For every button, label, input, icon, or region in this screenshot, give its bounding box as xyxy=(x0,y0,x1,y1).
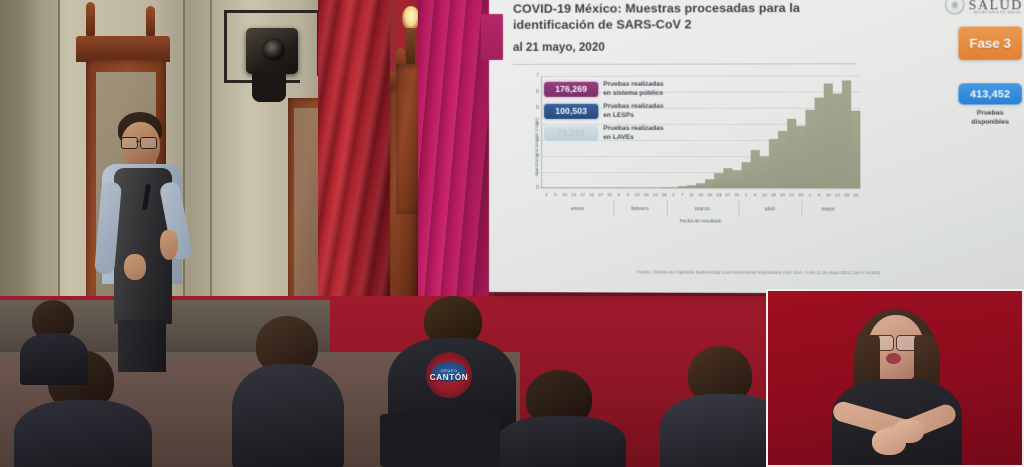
legend-lesps: 100,503Pruebas realizadas en LESPs xyxy=(544,102,663,120)
curtain-red xyxy=(318,0,390,310)
chart-bar xyxy=(669,187,678,188)
interpreter-hand-right xyxy=(894,419,924,443)
x-tick-label: 20 xyxy=(780,192,785,197)
legend-sistema-publico: 176,269Pruebas realizadas en sistema púb… xyxy=(544,80,663,98)
y-tick-label: 4 xyxy=(536,121,539,127)
audience-member-2 xyxy=(20,300,90,370)
slide-accent-bar xyxy=(481,14,503,60)
presenter-hand-left xyxy=(124,254,146,280)
month-label: enero xyxy=(571,206,585,212)
slide-title: COVID-19 México: Muestras procesadas par… xyxy=(513,0,846,34)
x-tick-label: 28 xyxy=(798,192,803,197)
month-separator xyxy=(738,200,739,216)
x-tick-label: 12 xyxy=(762,192,767,197)
x-tick-label: 17 xyxy=(580,192,585,197)
x-tick-label: 14 xyxy=(835,192,840,197)
audience-member-3 xyxy=(232,316,344,467)
chart-bar xyxy=(742,163,751,189)
month-separator xyxy=(667,200,668,216)
chart-bar xyxy=(824,83,833,188)
x-tick-label: 19 xyxy=(707,192,712,197)
chart-bar xyxy=(687,185,696,188)
audience-body xyxy=(14,400,152,467)
camera-hood xyxy=(252,72,286,102)
available-tests-caption: Pruebas disponibles xyxy=(958,109,1022,128)
chart-bar xyxy=(769,139,778,188)
wall-panel-left xyxy=(0,0,60,300)
chart-bar xyxy=(723,168,732,188)
salud-logo-subtitle: SECRETARÍA DE SALUD xyxy=(973,10,1020,14)
projected-slide: COVID-19 México: Muestras procesadas par… xyxy=(489,0,1024,294)
x-tick-label: 6 xyxy=(554,192,556,197)
legend-laves: 70,233Pruebas realizadas en LAVEs xyxy=(544,124,663,142)
month-label: marzo xyxy=(695,206,710,212)
canton-logo-text: CANTÓN xyxy=(430,373,469,382)
x-tick-label: 11 xyxy=(689,192,694,197)
chart-bar xyxy=(833,93,842,188)
x-tick-label: 28 xyxy=(662,192,667,197)
x-tick-label: 22 xyxy=(589,192,594,197)
x-tick-label: 27 xyxy=(725,192,730,197)
x-tick-label: 8 xyxy=(754,192,756,197)
presenter-glasses-left xyxy=(121,137,138,149)
x-tick-label: 31 xyxy=(735,192,740,197)
presenter-glasses-right xyxy=(140,137,157,149)
interpreter-mouth xyxy=(886,353,901,364)
presenter-glasses-bridge xyxy=(136,141,140,142)
month-label: abril xyxy=(764,206,774,212)
audience-chair xyxy=(380,414,500,467)
slide-date: al 21 mayo, 2020 xyxy=(513,41,605,54)
slide-divider xyxy=(513,63,856,65)
audience-member-5 xyxy=(496,370,626,467)
x-tick-label: 4 xyxy=(618,192,620,197)
chart-bar xyxy=(815,98,824,188)
camera-rig-arm-top xyxy=(224,10,320,13)
x-tick-label: 24 xyxy=(789,192,794,197)
legend-value-chip: 100,503 xyxy=(544,104,598,119)
legend-label: Pruebas realizadas en sistema público xyxy=(603,80,663,98)
y-tick-label: 1 xyxy=(536,169,539,175)
x-tick-label: 10 xyxy=(562,192,567,197)
audience-body xyxy=(496,416,626,467)
presenter xyxy=(96,112,216,360)
month-label: febrero xyxy=(631,206,648,212)
chart-bar xyxy=(805,109,814,188)
y-tick-label: 2 xyxy=(536,153,539,159)
x-tick-label: 6 xyxy=(818,192,820,197)
x-tick-label: 2 xyxy=(809,192,811,197)
x-tick-label: 22 xyxy=(853,192,858,197)
chart-month-labels: enerofebreromarzoabrilmayo xyxy=(509,71,864,72)
chart-bar xyxy=(732,171,741,189)
x-tick-label: 23 xyxy=(716,192,721,197)
presenter-hand-right xyxy=(160,230,178,260)
month-separator xyxy=(613,200,614,216)
y-tick-label: 5 xyxy=(536,105,539,111)
sign-language-interpreter-panel xyxy=(766,289,1024,467)
x-tick-label: 9 xyxy=(627,192,629,197)
legend-label: Pruebas realizadas en LAVEs xyxy=(603,124,663,142)
chart-bar xyxy=(705,179,714,188)
wall-edge-1 xyxy=(58,0,60,300)
x-tick-label: 4 xyxy=(745,192,747,197)
chart-bar xyxy=(751,150,760,188)
x-tick-label: 10 xyxy=(826,192,831,197)
chart-bar xyxy=(714,173,723,188)
y-tick-label: 6 xyxy=(536,89,539,95)
x-tick-label: 16 xyxy=(771,192,776,197)
x-tick-label: 13 xyxy=(635,192,640,197)
sconce-stem xyxy=(406,28,415,68)
chart-bar xyxy=(796,126,805,188)
national-seal-icon xyxy=(945,0,964,15)
chart-bar xyxy=(842,80,851,188)
chart-bar xyxy=(778,131,787,188)
audience-body xyxy=(20,333,88,385)
y-tick-label: 7 xyxy=(536,73,539,79)
available-tests-value: 413,452 xyxy=(958,83,1022,104)
legend-value-chip: 70,233 xyxy=(544,126,598,141)
month-separator xyxy=(801,200,802,216)
x-tick-label: 2 xyxy=(545,192,547,197)
x-tick-label: 31 xyxy=(607,192,612,197)
legend-label: Pruebas realizadas en LESPs xyxy=(603,102,663,120)
x-tick-label: 7 xyxy=(681,192,683,197)
slide-source-note: Fuente: Sistema de Vigilancia Epidemioló… xyxy=(489,269,1024,276)
chart-x-axis-title: Fecha de resultado xyxy=(542,219,860,225)
broadcast-screenshot: GRUPO CANTÓN COVID-19 México: Muestras p… xyxy=(0,0,1024,467)
x-tick-label: 18 xyxy=(644,192,649,197)
x-tick-label: 24 xyxy=(653,192,658,197)
x-tick-label: 13 xyxy=(571,192,576,197)
door-cap-left xyxy=(76,36,170,62)
x-tick-label: 15 xyxy=(698,192,703,197)
audience-body xyxy=(232,364,344,467)
month-label: mayo xyxy=(821,207,834,213)
y-tick-label: 3 xyxy=(536,137,539,143)
chart-bar xyxy=(660,188,669,189)
x-tick-label: 27 xyxy=(598,192,603,197)
door-finial-right xyxy=(146,6,155,36)
y-tick-label: 0 xyxy=(536,185,539,191)
chart-x-ticks: 2610131722273149131824283711151923273148… xyxy=(542,192,860,200)
chart-bar xyxy=(787,119,796,188)
chart-bar xyxy=(696,183,705,188)
door-finial-left xyxy=(86,2,95,36)
x-tick-label: 3 xyxy=(672,192,674,197)
camera-rig-arm-left xyxy=(224,10,227,82)
chart-bar xyxy=(678,187,687,189)
legend-value-chip: 176,269 xyxy=(544,81,598,96)
fase-badge: Fase 3 xyxy=(958,26,1022,60)
chart-bar xyxy=(760,156,769,188)
chart-legend: 176,269Pruebas realizadas en sistema púb… xyxy=(544,80,663,147)
camera-lens xyxy=(264,40,284,60)
chart-bar xyxy=(851,111,860,189)
canton-logo: GRUPO CANTÓN xyxy=(426,352,472,398)
x-tick-label: 18 xyxy=(844,192,849,197)
